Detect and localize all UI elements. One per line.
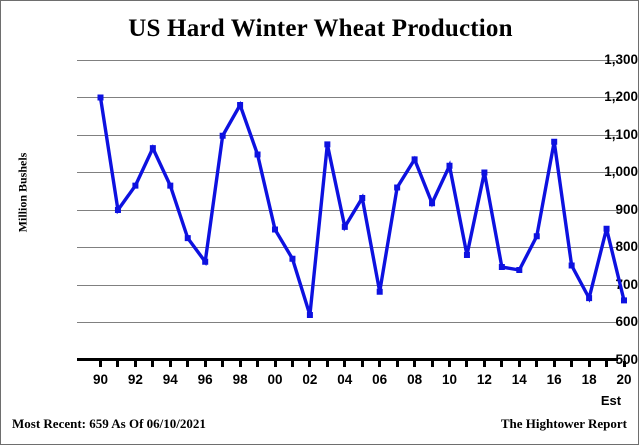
x-tick — [396, 361, 399, 367]
x-tick — [588, 361, 591, 367]
y-tick-label: 1,300 — [576, 52, 638, 67]
x-tick — [256, 361, 259, 367]
x-tick — [326, 361, 329, 367]
x-tick — [134, 361, 137, 367]
x-tick — [204, 361, 207, 367]
y-axis-title: Million Bushels — [16, 138, 31, 248]
x-tick — [308, 361, 311, 367]
gridline — [77, 60, 618, 61]
x-tick — [291, 361, 294, 367]
x-tick — [623, 361, 626, 367]
gridline — [77, 97, 618, 98]
x-tick — [570, 361, 573, 367]
gridline — [77, 285, 618, 286]
x-tick — [186, 361, 189, 367]
plot-area — [77, 60, 618, 360]
y-tick-label: 800 — [576, 239, 638, 254]
x-tick — [361, 361, 364, 367]
x-tick — [448, 361, 451, 367]
x-tick — [116, 361, 119, 367]
x-tick — [343, 361, 346, 367]
x-tick — [553, 361, 556, 367]
x-tick — [99, 361, 102, 367]
footer-most-recent: Most Recent: 659 As Of 06/10/2021 — [12, 416, 206, 432]
x-tick — [169, 361, 172, 367]
chart-figure: US Hard Winter Wheat Production Million … — [0, 0, 639, 445]
y-tick-label: 1,000 — [576, 164, 638, 179]
y-tick-label: 1,100 — [576, 127, 638, 142]
gridline — [77, 322, 618, 323]
page-title: US Hard Winter Wheat Production — [1, 15, 639, 43]
x-tick — [151, 361, 154, 367]
gridline — [77, 247, 618, 248]
x-tick — [221, 361, 224, 367]
y-tick-label: 600 — [576, 314, 638, 329]
y-tick-label: 1,200 — [576, 89, 638, 104]
x-tick — [274, 361, 277, 367]
x-tick — [518, 361, 521, 367]
y-tick-label: 900 — [576, 202, 638, 217]
x-tick-label: 20 — [604, 372, 639, 387]
gridline — [77, 172, 618, 173]
x-tick — [465, 361, 468, 367]
x-tick — [605, 361, 608, 367]
data-point-marker — [621, 297, 627, 303]
x-tick — [483, 361, 486, 367]
x-tick — [413, 361, 416, 367]
x-tick — [239, 361, 242, 367]
est-annotation: Est — [585, 393, 637, 408]
gridline — [77, 210, 618, 211]
y-tick-label: 700 — [576, 277, 638, 292]
x-tick — [431, 361, 434, 367]
footer-source: The Hightower Report — [501, 416, 627, 432]
x-tick — [535, 361, 538, 367]
x-tick — [500, 361, 503, 367]
gridline — [77, 135, 618, 136]
x-tick — [378, 361, 381, 367]
